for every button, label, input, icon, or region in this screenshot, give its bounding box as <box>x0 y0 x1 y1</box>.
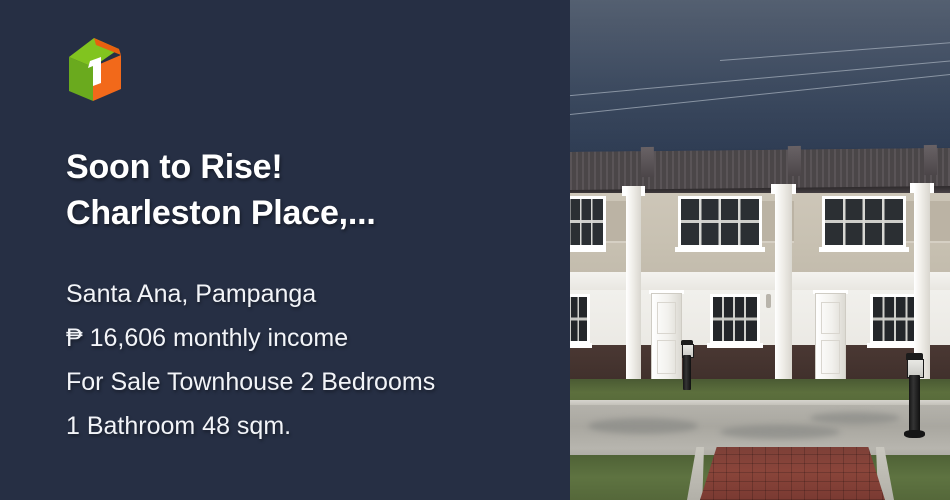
ground-window <box>710 294 760 344</box>
brick-walkway <box>700 447 885 500</box>
listing-monthly-income: ₱ 16,606 monthly income <box>66 316 546 360</box>
roof-gable <box>788 146 801 176</box>
listing-offer-type: For Sale Townhouse 2 Bedrooms <box>66 360 546 404</box>
window-sill <box>570 343 592 348</box>
window-sill <box>707 343 763 348</box>
listing-headline: Soon to Rise! Charleston Place,... <box>66 144 536 236</box>
window-sill <box>570 247 606 252</box>
wall-pilaster <box>775 184 792 386</box>
upper-window <box>678 196 762 248</box>
ground-window <box>570 294 590 344</box>
roof-gable <box>924 145 937 175</box>
upper-window <box>822 196 906 248</box>
listing-specs: 1 Bathroom 48 sqm. <box>66 404 546 448</box>
upper-window <box>570 196 606 248</box>
property-listing-card: Soon to Rise! Charleston Place,... Santa… <box>0 0 950 500</box>
house-logo-svg <box>63 33 129 103</box>
bollard-light-post <box>909 375 920 433</box>
townhouse-exterior-photo <box>570 0 950 500</box>
roof-gable <box>641 147 654 177</box>
listing-details: Santa Ana, Pampanga ₱ 16,606 monthly inc… <box>66 272 546 448</box>
front-door <box>651 293 682 381</box>
window-sill <box>819 247 909 252</box>
listing-info-panel: Soon to Rise! Charleston Place,... Santa… <box>0 0 570 500</box>
wall-pilaster <box>626 186 641 386</box>
wall-fixture <box>766 294 771 308</box>
wet-pavement-patch <box>810 412 900 424</box>
wet-pavement-patch <box>720 425 840 439</box>
wet-pavement-patch <box>588 418 698 434</box>
window-sill <box>675 247 765 252</box>
house-number-one-logo[interactable] <box>63 33 129 103</box>
bollard-light-post <box>683 355 691 390</box>
headline-line-1: Soon to Rise! <box>66 144 536 190</box>
listing-location: Santa Ana, Pampanga <box>66 272 546 316</box>
headline-line-2: Charleston Place,... <box>66 190 536 236</box>
front-door <box>815 293 846 381</box>
bollard-light-base <box>904 430 925 438</box>
